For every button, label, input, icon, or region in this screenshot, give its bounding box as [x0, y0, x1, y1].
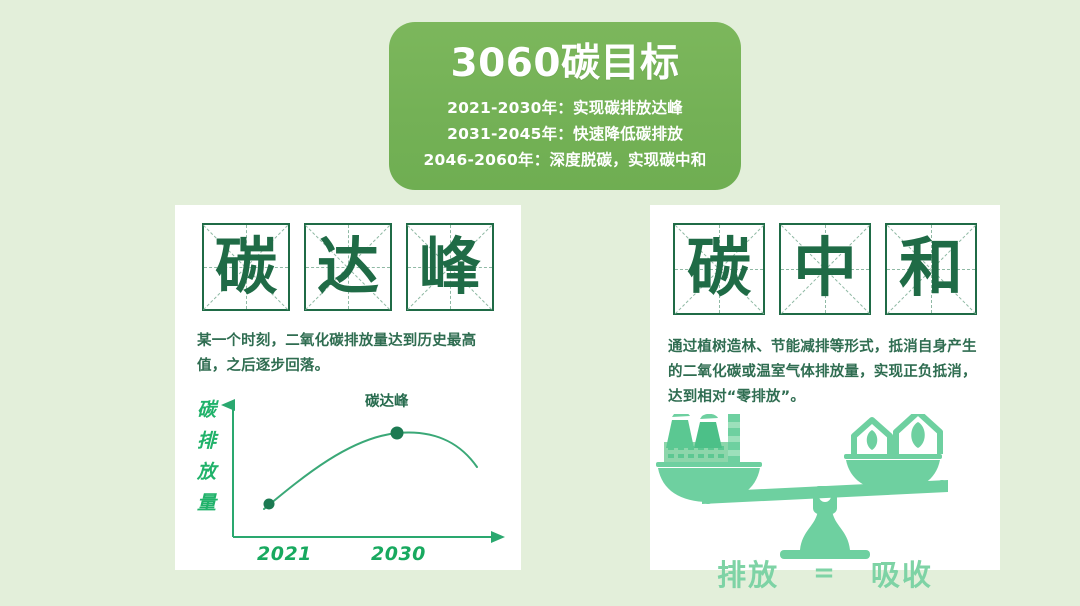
character-grid-left: 碳 达 峰	[175, 205, 521, 311]
character-glyph: 达	[306, 225, 390, 309]
equation-right-term: 吸收	[871, 552, 933, 594]
character-box-1: 碳	[202, 223, 290, 311]
character-box-2: 达	[304, 223, 392, 311]
character-glyph: 中	[781, 225, 869, 313]
card-carbon-neutral: 碳 中 和 通过植树造林、节能减排等形式，抵消自身产生的二氧化碳或温室气体排放量…	[650, 205, 1000, 570]
banner-line-1: 2021-2030年：实现碳排放达峰	[447, 95, 683, 121]
chart-curve	[264, 432, 477, 509]
chart-peak-annotation: 碳达峰	[365, 390, 409, 411]
factory-icon	[664, 414, 748, 462]
balance-illustration: 排放 = 吸收	[650, 414, 1000, 564]
character-box-1: 碳	[673, 223, 765, 315]
infographic-page: 3060碳目标 2021-2030年：实现碳排放达峰 2031-2045年：快速…	[0, 0, 1080, 606]
equals-sign-icon: =	[813, 558, 837, 588]
header-banner: 3060碳目标 2021-2030年：实现碳排放达峰 2031-2045年：快速…	[389, 22, 741, 190]
emission-equals-absorption: 排放 = 吸收	[650, 552, 1000, 594]
chart-marker-2021	[264, 499, 275, 510]
chart-xtick-2030: 2030	[371, 543, 426, 565]
equation-left-term: 排放	[717, 552, 779, 594]
chart-xtick-2021: 2021	[257, 543, 312, 565]
card-carbon-peak: 碳 达 峰 某一个时刻，二氧化碳排放量达到历史最高值，之后逐步回落。 碳	[175, 205, 521, 570]
page-title: 3060碳目标	[450, 40, 679, 88]
character-box-3: 峰	[406, 223, 494, 311]
eco-house-icon	[854, 414, 940, 454]
carbon-peak-description: 某一个时刻，二氧化碳排放量达到历史最高值，之后逐步回落。	[197, 329, 501, 379]
chart-marker-peak	[391, 427, 404, 440]
balance-scale-icon	[650, 414, 1000, 564]
character-box-3: 和	[885, 223, 977, 315]
carbon-emission-chart: 碳 排 放 量	[175, 387, 521, 567]
banner-line-3: 2046-2060年：深度脱碳，实现碳中和	[424, 147, 707, 173]
banner-line-2: 2031-2045年：快速降低碳排放	[447, 121, 683, 147]
character-glyph: 碳	[204, 225, 288, 309]
character-glyph: 碳	[675, 225, 763, 313]
carbon-neutral-description: 通过植树造林、节能减排等形式，抵消自身产生的二氧化碳或温室气体排放量，实现正负抵…	[668, 335, 986, 410]
character-glyph: 和	[887, 225, 975, 313]
chart-plot-area	[175, 387, 521, 567]
character-grid-right: 碳 中 和	[650, 205, 1000, 315]
character-glyph: 峰	[408, 225, 492, 309]
character-box-2: 中	[779, 223, 871, 315]
